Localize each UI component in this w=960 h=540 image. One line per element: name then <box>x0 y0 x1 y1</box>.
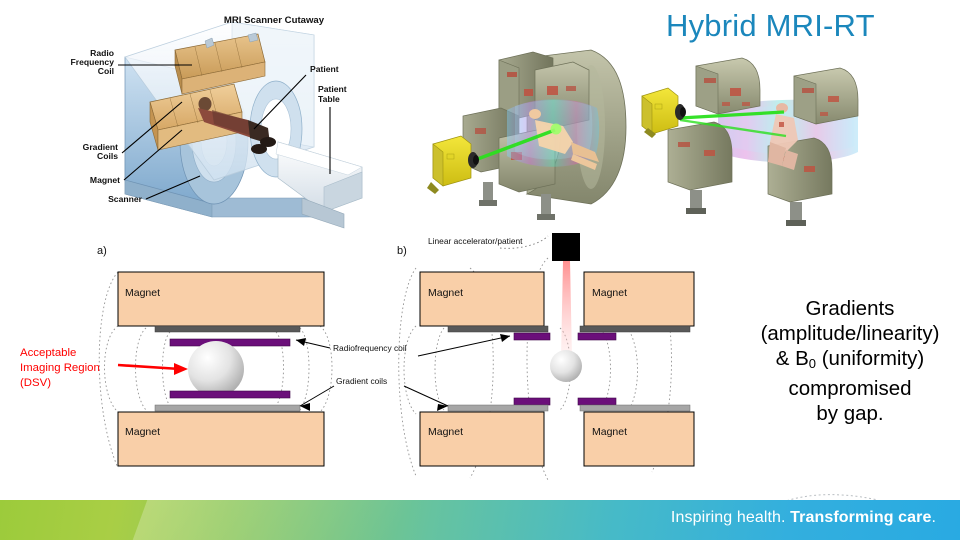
magnet-block-b-bottom-right <box>584 412 694 466</box>
magnet-gap-schematic: a) Magnet <box>0 228 740 488</box>
magnet-block-b-top-left <box>420 272 544 326</box>
gradients-note-line3-pre: & B <box>776 347 809 370</box>
magnet-label-b-bottom-right: Magnet <box>592 426 627 438</box>
linac-source-box <box>552 233 580 261</box>
dsv-label-line1: Acceptable <box>20 347 76 359</box>
footer-bar: Inspiring health. Transforming care. <box>0 500 960 540</box>
magnet-label-a-top: Magnet <box>125 287 160 299</box>
gradient-coil-a-bottom <box>155 405 300 411</box>
gradients-note-line5: by gap. <box>742 401 958 426</box>
mri-scanner-cutaway-figure: MRI Scanner Cutaway Radio Frequency Coil… <box>62 2 442 230</box>
rf-coil-b-top-left <box>514 333 550 340</box>
label-rf-coil-line3: Coil <box>98 66 114 76</box>
gradient-coil-b-bottom-right <box>580 405 690 411</box>
magnet-label-a-bottom: Magnet <box>125 426 160 438</box>
magnet-block-b-top-right <box>584 272 694 326</box>
gradient-coil-b-top-left <box>448 326 548 332</box>
magnet-block-a-bottom <box>118 412 324 466</box>
label-patient-table-line1: Patient <box>318 84 347 94</box>
label-magnet: Magnet <box>90 175 120 185</box>
label-scanner: Scanner <box>108 194 143 204</box>
footer-tagline: Inspiring health. Transforming care. <box>671 509 936 527</box>
page-title: Hybrid MRI-RT <box>666 8 946 44</box>
gradients-note-line3: & B0 (uniformity) <box>742 346 958 376</box>
rf-coil-b-top-right <box>578 333 616 340</box>
gradient-coil-b-top-right <box>580 326 690 332</box>
dsv-label-line2: Imaging Region <box>20 362 100 374</box>
gradient-coil-a-top <box>155 326 300 332</box>
gradients-note-b0-subscript: 0 <box>809 356 816 371</box>
gradients-note-line1: Gradients <box>742 296 958 321</box>
magnet-label-b-top-right: Magnet <box>592 287 627 299</box>
dsv-arrow <box>118 363 188 375</box>
mri-linac-split-magnet-render <box>634 42 862 230</box>
dsv-sphere-b <box>550 350 582 382</box>
gradients-note-line4: compromised <box>742 376 958 401</box>
gradient-coil-annotation: Gradient coils <box>336 376 387 386</box>
gradients-note-line2: (amplitude/linearity) <box>742 321 958 346</box>
rf-coil-a-bottom <box>170 391 290 398</box>
panel-a-label: a) <box>97 245 107 257</box>
magnet-label-b-top-left: Magnet <box>428 287 463 299</box>
label-patient-table-line2: Table <box>318 94 340 104</box>
gradients-note-line3-post: (uniformity) <box>816 347 924 370</box>
rf-coil-b-bottom-left <box>514 398 550 405</box>
label-gradient-line2: Coils <box>97 151 118 161</box>
magnet-block-a-top <box>118 272 324 326</box>
slide-canvas: Hybrid MRI-RT <box>0 0 960 540</box>
magnet-label-b-bottom-left: Magnet <box>428 426 463 438</box>
cutaway-title: MRI Scanner Cutaway <box>224 15 325 26</box>
footer-tagline-normal: Inspiring health. <box>671 509 790 526</box>
linac-label: Linear accelerator/patient <box>428 236 523 246</box>
panel-b-label: b) <box>397 245 407 257</box>
dsv-sphere-a <box>188 341 244 397</box>
footer-tagline-bold: Transforming care <box>790 509 931 526</box>
rf-coil-annotation: Radiofrequency coil <box>333 343 407 353</box>
gradients-note: Gradients (amplitude/linearity) & B0 (un… <box>742 296 958 426</box>
gradient-coil-leaders <box>300 386 448 411</box>
rf-coil-b-bottom-right <box>578 398 616 405</box>
label-patient: Patient <box>310 64 339 74</box>
radiation-beam <box>561 261 572 358</box>
gradient-coil-b-bottom-left <box>448 405 548 411</box>
footer-tagline-end: . <box>931 509 936 526</box>
mri-linac-closed-bore-render <box>423 42 638 230</box>
magnet-block-b-bottom-left <box>420 412 544 466</box>
dsv-label-line3: (DSV) <box>20 377 51 389</box>
footer-sheen <box>118 500 582 540</box>
